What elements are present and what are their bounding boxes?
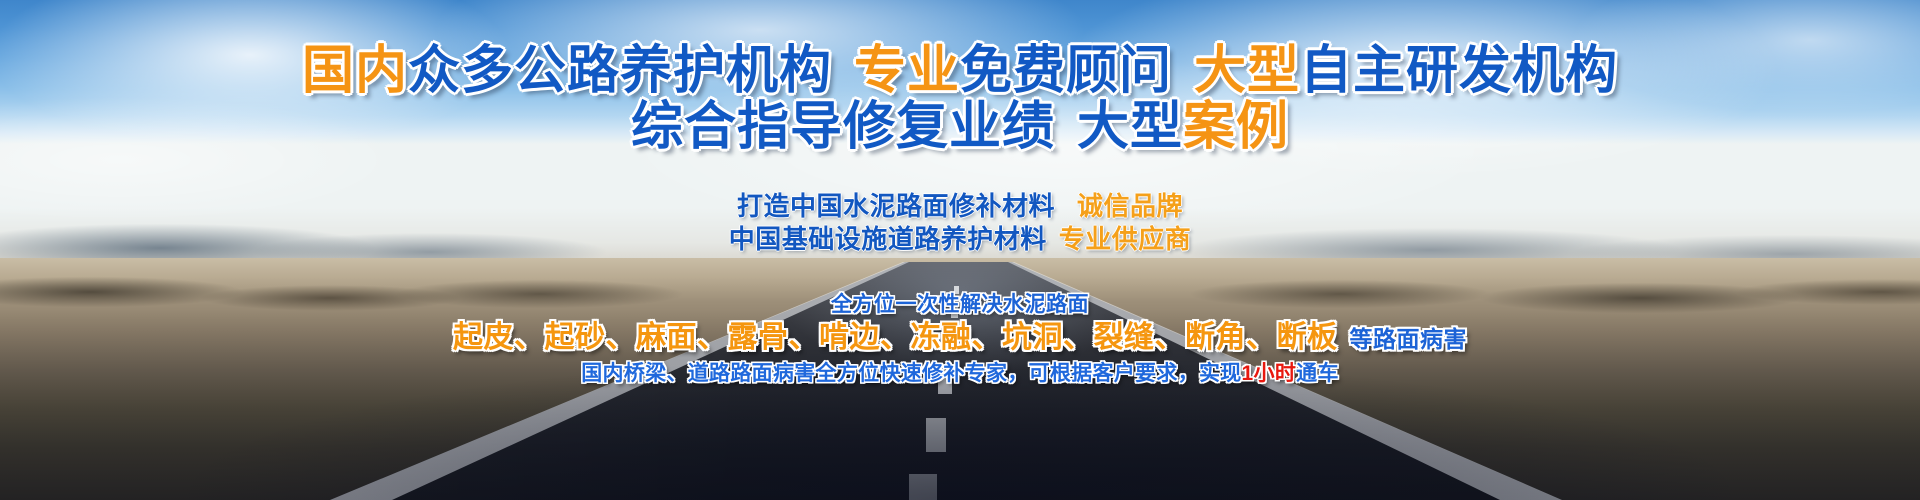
headline-l1-seg-2: 众多公路养护机构 bbox=[408, 42, 832, 100]
bottom-closing-highlight: 1小时 bbox=[1242, 362, 1297, 385]
bottom-closing-pre: 国内桥梁、道路路面病害全方位快速修补专家，可根据客户要求，实现 bbox=[581, 362, 1241, 385]
subheadline-l2-main: 中国基础设施道路养护材料 bbox=[729, 224, 1047, 254]
headline-line-2: 综合指导修复业绩大型案例 bbox=[0, 98, 1920, 156]
bottom-defects-suffix: 等路面病害 bbox=[1350, 326, 1468, 352]
headline-line-1: 国内众多公路养护机构专业免费顾问大型自主研发机构 bbox=[0, 42, 1920, 100]
bottom-defects-list: 起皮、起砂、麻面、露骨、啃边、冻融、坑洞、裂缝、断角、断板 bbox=[453, 321, 1338, 354]
promo-banner: 国内众多公路养护机构专业免费顾问大型自主研发机构 综合指导修复业绩大型案例 打造… bbox=[0, 0, 1920, 500]
subheadline-line-1: 打造中国水泥路面修补材料诚信品牌 bbox=[0, 190, 1920, 223]
subheadline-block: 打造中国水泥路面修补材料诚信品牌 中国基础设施道路养护材料专业供应商 bbox=[0, 190, 1920, 256]
headline-l1-seg-5: 大型 bbox=[1194, 42, 1300, 100]
subheadline-line-2: 中国基础设施道路养护材料专业供应商 bbox=[0, 223, 1920, 256]
headline-l1-seg-1: 国内 bbox=[302, 42, 408, 100]
subheadline-l1-main: 打造中国水泥路面修补材料 bbox=[737, 191, 1055, 221]
headline-l1-seg-4: 免费顾问 bbox=[960, 42, 1172, 100]
subheadline-l2-accent: 专业供应商 bbox=[1059, 224, 1192, 254]
subheadline-l1-accent: 诚信品牌 bbox=[1077, 191, 1183, 221]
headline-l1-seg-3: 专业 bbox=[854, 42, 960, 100]
bottom-block: 全方位一次性解决水泥路面 起皮、起砂、麻面、露骨、啃边、冻融、坑洞、裂缝、断角、… bbox=[0, 292, 1920, 389]
headline-l2-seg-2: 大型 bbox=[1077, 98, 1183, 156]
headline-l1-seg-6: 自主研发机构 bbox=[1300, 42, 1618, 100]
bottom-closing-post: 通车 bbox=[1296, 362, 1339, 385]
bottom-lead-line: 全方位一次性解决水泥路面 bbox=[0, 292, 1920, 318]
bottom-defects-line: 起皮、起砂、麻面、露骨、啃边、冻融、坑洞、裂缝、断角、断板等路面病害 bbox=[0, 318, 1920, 359]
bottom-closing-line: 国内桥梁、道路路面病害全方位快速修补专家，可根据客户要求，实现1小时通车 bbox=[0, 359, 1920, 389]
headline-l2-seg-1: 综合指导修复业绩 bbox=[631, 98, 1055, 156]
headline-l2-seg-3: 案例 bbox=[1183, 98, 1289, 156]
